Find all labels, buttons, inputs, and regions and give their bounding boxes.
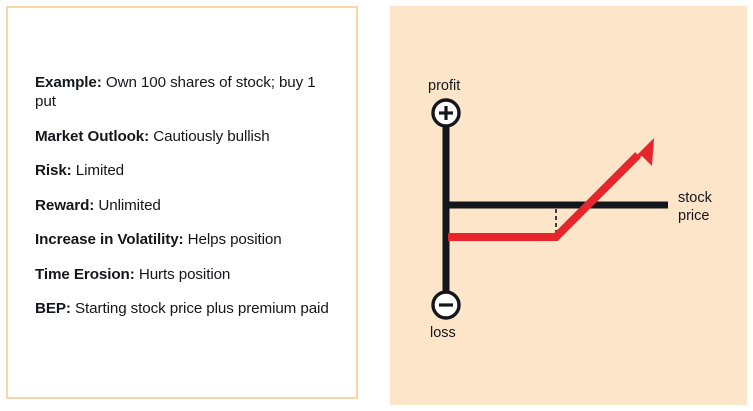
info-item-label: Time Erosion: — [35, 266, 135, 283]
stock-price-axis-label-line1: stock — [678, 190, 713, 206]
info-item-value: Limited — [76, 162, 124, 179]
info-item-label: Example: — [35, 74, 102, 91]
list-item: Risk: Limited — [35, 161, 330, 180]
info-item-value: Cautiously bullish — [153, 128, 269, 145]
list-item: Example: Own 100 shares of stock; buy 1 … — [35, 73, 330, 112]
list-item: Market Outlook: Cautiously bullish — [35, 127, 330, 146]
payoff-chart: profit loss stock price — [390, 6, 747, 405]
loss-axis-label: loss — [430, 325, 456, 341]
info-item-label: Market Outlook: — [35, 128, 149, 145]
info-item-value: Hurts position — [139, 266, 230, 283]
list-item: Increase in Volatility: Helps position — [35, 230, 330, 249]
info-item-value: Helps position — [188, 231, 282, 248]
minus-circle-icon — [433, 292, 459, 318]
list-item: BEP: Starting stock price plus premium p… — [35, 299, 330, 318]
strategy-info-list: Example: Own 100 shares of stock; buy 1 … — [35, 58, 330, 328]
page-root: Example: Own 100 shares of stock; buy 1 … — [0, 0, 753, 411]
profit-axis-label: profit — [428, 78, 460, 94]
info-item-label: BEP: — [35, 300, 71, 317]
payoff-line — [448, 155, 638, 237]
info-item-value: Unlimited — [98, 197, 160, 214]
stock-price-axis-label-line2: price — [678, 208, 709, 224]
list-item: Reward: Unlimited — [35, 196, 330, 215]
info-item-label: Reward: — [35, 197, 94, 214]
plus-circle-icon — [433, 100, 459, 126]
payoff-diagram-panel: profit loss stock price — [390, 6, 747, 405]
info-item-label: Increase in Volatility: — [35, 231, 184, 248]
list-item: Time Erosion: Hurts position — [35, 265, 330, 284]
strategy-info-panel: Example: Own 100 shares of stock; buy 1 … — [6, 6, 358, 399]
info-item-label: Risk: — [35, 162, 72, 179]
info-item-value: Starting stock price plus premium paid — [75, 300, 329, 317]
